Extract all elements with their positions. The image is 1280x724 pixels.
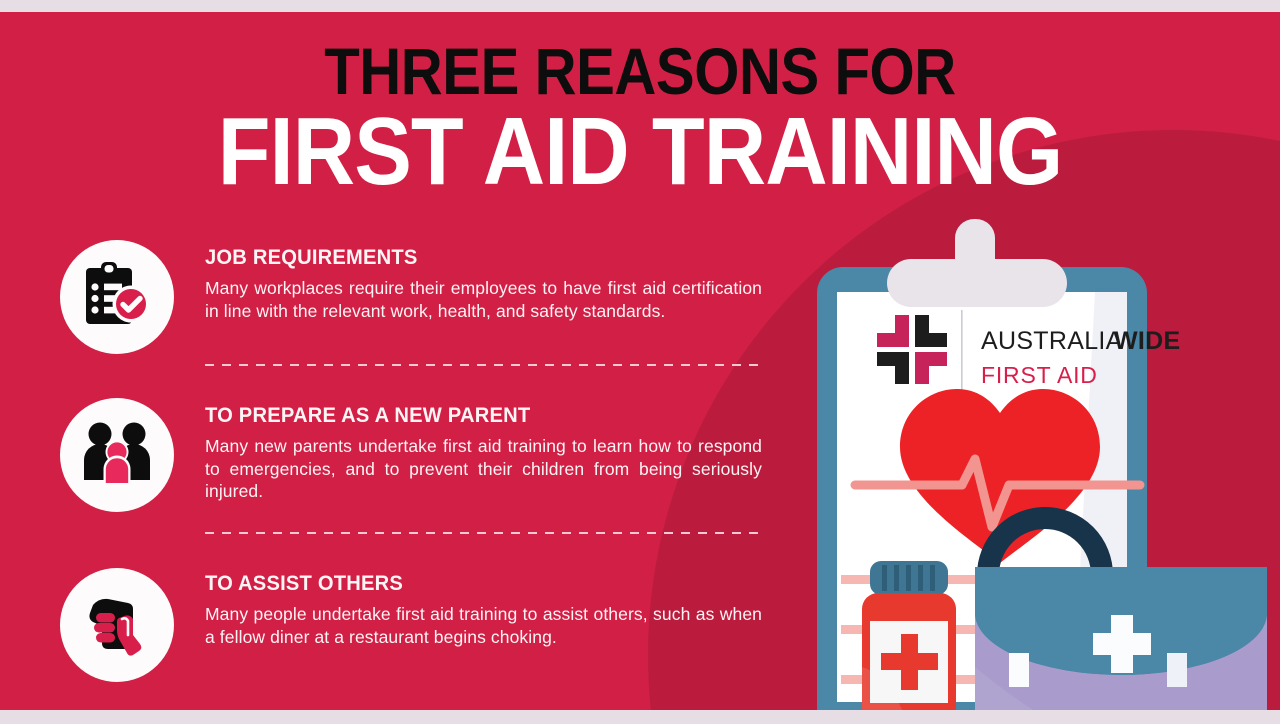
first-aid-illustration: AUSTRALIA WIDE FIRST AID: [795, 197, 1280, 710]
brand-name-bold: WIDE: [1114, 327, 1180, 355]
section-divider: [205, 364, 762, 366]
reason-text: Many new parents undertake first aid tra…: [205, 435, 762, 503]
reason-text: Many people undertake first aid training…: [205, 603, 762, 648]
brand-tagline: FIRST AID: [981, 362, 1098, 388]
reason-body: TO ASSIST OTHERS Many people undertake f…: [205, 572, 762, 648]
section-divider: [205, 532, 762, 534]
poster-stage: THREE REASONS FOR FIRST AID TRAINING: [0, 12, 1280, 710]
reason-body: JOB REQUIREMENTS Many workplaces require…: [205, 246, 762, 322]
clipboard-check-icon: [80, 260, 154, 334]
reason-heading: JOB REQUIREMENTS: [205, 246, 740, 270]
brand-name-light: AUSTRALIA: [981, 327, 1123, 355]
reason-heading: TO PREPARE AS A NEW PARENT: [205, 404, 740, 428]
page-title-line2: FIRST AID TRAINING: [64, 104, 1216, 200]
reason-icon-circle: [60, 240, 174, 354]
page-title-line1: THREE REASONS FOR: [77, 38, 1203, 104]
reason-icon-circle: [60, 568, 174, 682]
illustration-svg: AUSTRALIA WIDE FIRST AID: [795, 197, 1280, 710]
reason-body: TO PREPARE AS A NEW PARENT Many new pare…: [205, 404, 762, 503]
reason-icon-circle: [60, 398, 174, 512]
reason-heading: TO ASSIST OTHERS: [205, 572, 740, 596]
family-parents-icon: [80, 418, 154, 492]
reason-text: Many workplaces require their employees …: [205, 277, 762, 322]
medicine-bottle-icon: [862, 561, 956, 710]
infographic-poster: THREE REASONS FOR FIRST AID TRAINING: [0, 0, 1280, 724]
choking-assist-hands-icon: [81, 589, 153, 661]
